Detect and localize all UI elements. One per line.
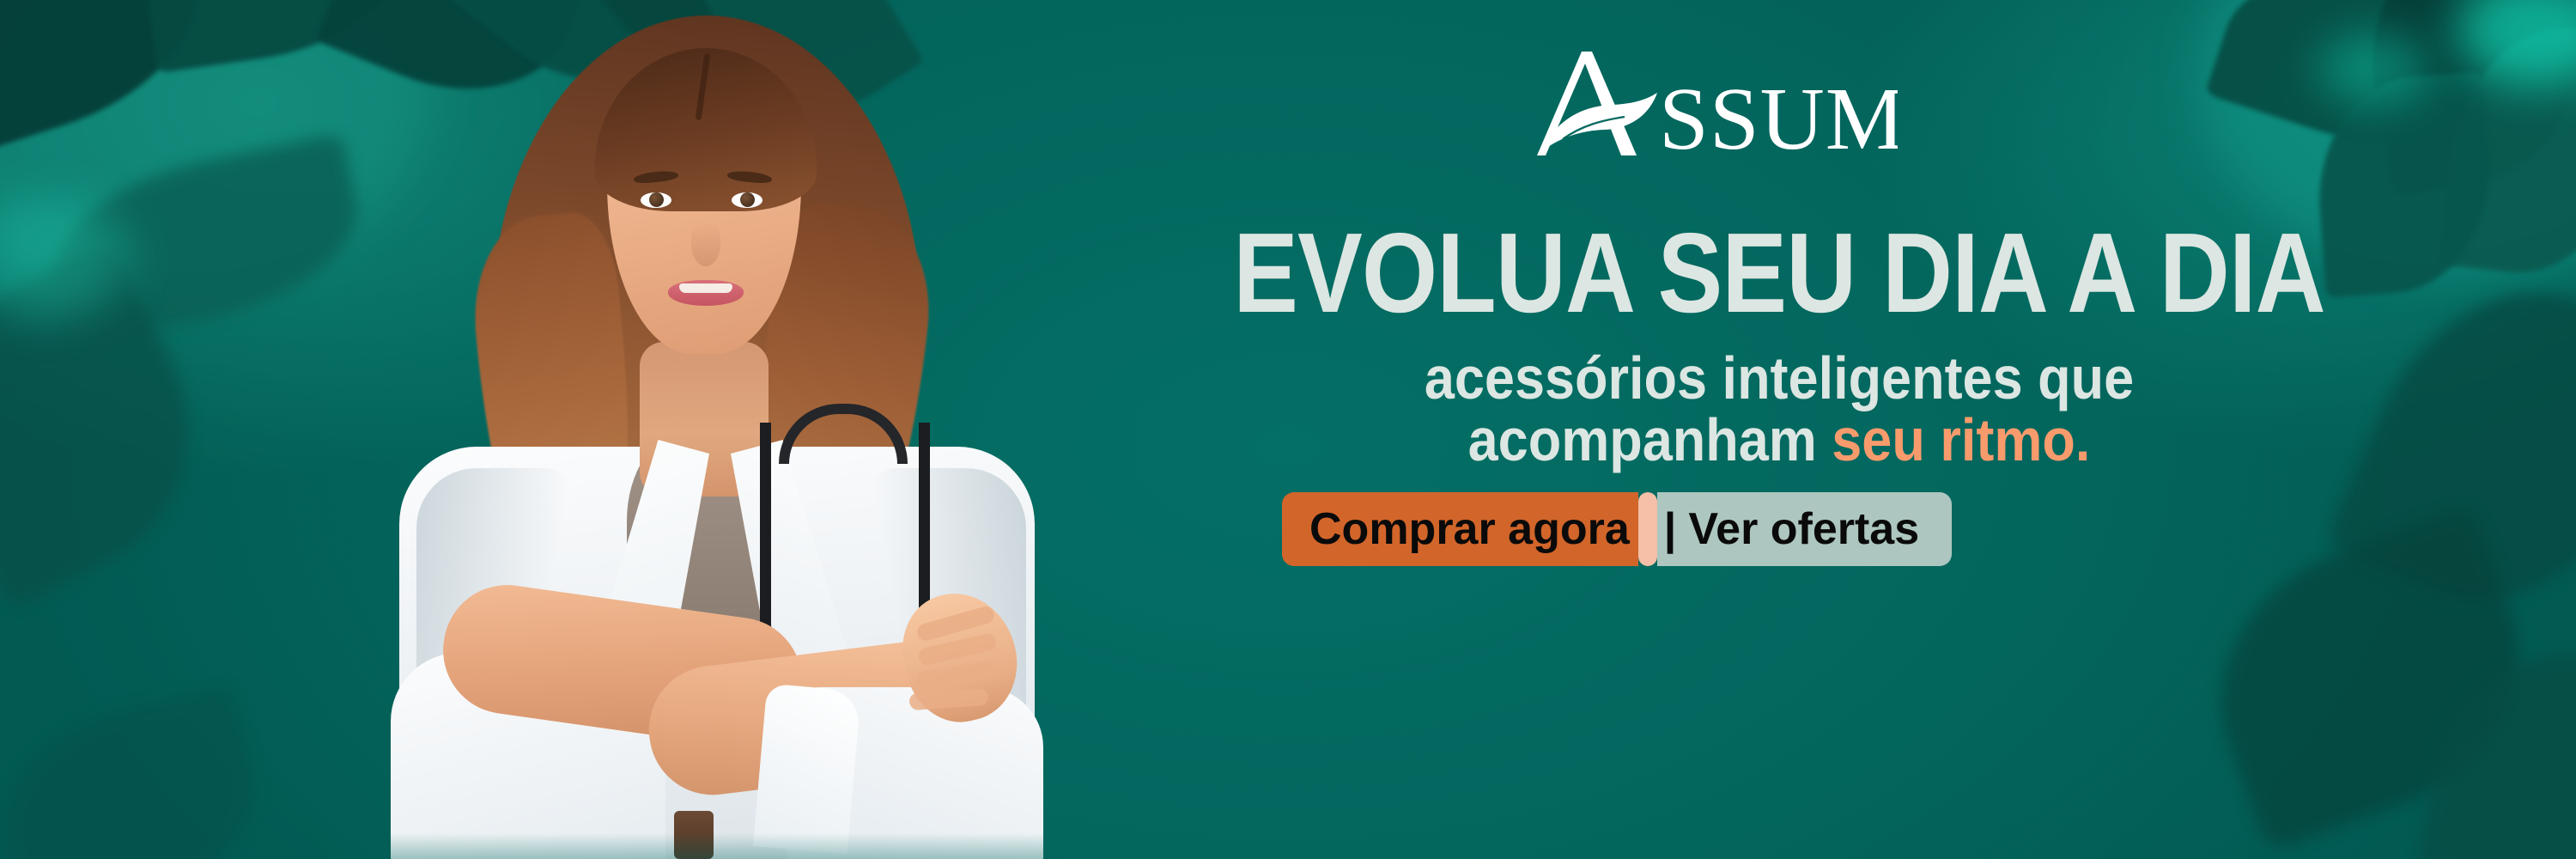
iris-right — [740, 192, 755, 207]
hero-content: SSUM EVOLUA SEU DIA A DIA acessórios int… — [1013, 0, 2524, 859]
bottom-fade — [391, 833, 1043, 859]
model-photo — [391, 0, 1043, 859]
glow-top-left — [0, 0, 429, 292]
subheadline-line-1: acessórios inteligentes que — [1138, 347, 2421, 409]
subheadline-line-2: acompanham seu ritmo. — [1138, 409, 2421, 471]
subheadline-line-2-plain: acompanham — [1468, 406, 1832, 473]
leaf-highlight-glow — [0, 198, 129, 318]
assum-logo: SSUM — [1528, 50, 1898, 157]
leaf-icon — [0, 0, 227, 160]
cta-divider — [1638, 492, 1657, 566]
leaf-icon — [137, 0, 412, 73]
leaf-icon — [0, 240, 240, 611]
subheadline-highlight: seu ritmo. — [1832, 406, 2090, 473]
leaf-icon — [39, 133, 374, 349]
buy-now-button[interactable]: Comprar agora — [1282, 492, 1638, 566]
leaf-icon — [0, 685, 276, 859]
coat-cuff — [753, 684, 861, 855]
svg-text:SSUM: SSUM — [1659, 70, 1898, 157]
teeth — [679, 283, 732, 293]
iris-left — [649, 192, 664, 207]
promo-banner: SSUM EVOLUA SEU DIA A DIA acessórios int… — [0, 0, 2576, 859]
view-offers-label: Ver ofertas — [1688, 503, 1919, 555]
page-title: EVOLUA SEU DIA A DIA — [1166, 216, 2392, 330]
cta-separator-glyph: | — [1664, 503, 1677, 555]
view-offers-button[interactable]: | Ver ofertas — [1657, 492, 1952, 566]
hero-subheadline: acessórios inteligentes que acompanham s… — [1138, 347, 2421, 471]
cta-group: Comprar agora | Ver ofertas — [1282, 492, 1952, 566]
nose — [691, 222, 720, 266]
